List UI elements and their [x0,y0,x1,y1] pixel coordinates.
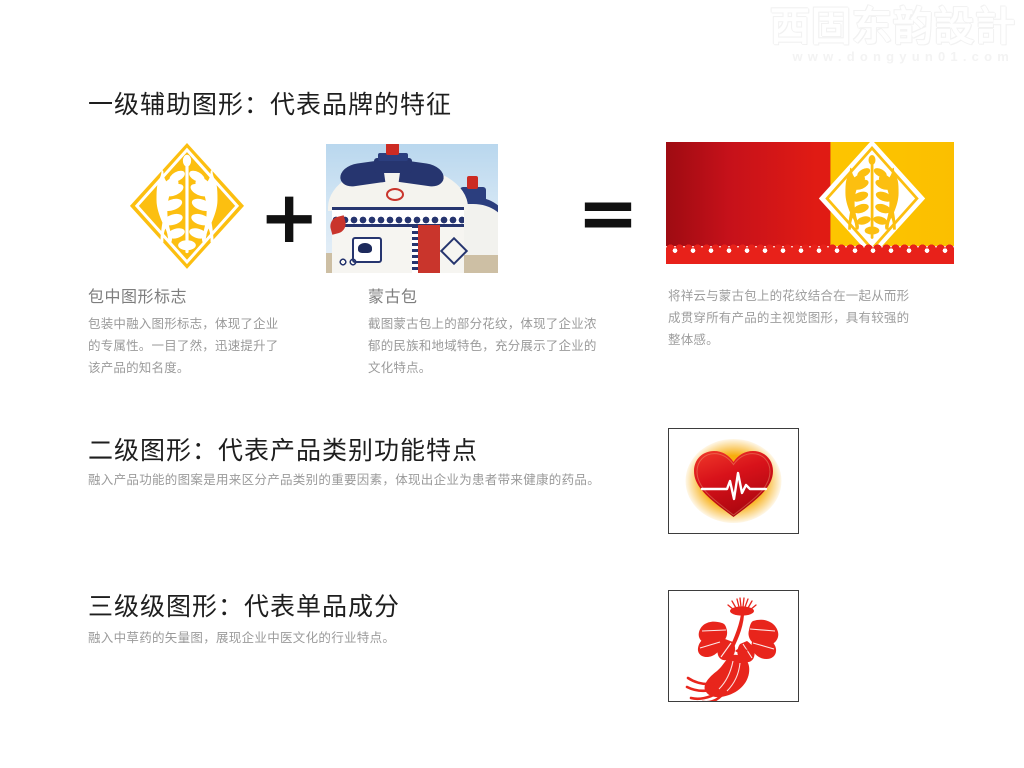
caption-banner: 将祥云与蒙古包上的花纹结合在一起从而形成贯穿所有产品的主视觉图形，具有较强的整体… [668,285,920,351]
slide-canvas: 西固东韵設計 www.dongyun01.com 一级辅助图形：代表品牌的特征 [0,0,1024,768]
caption-logo: 包中图形标志 包装中融入图形标志，体现了企业的专属性。一目了然，迅速提升了该产品… [88,287,288,379]
ginseng-herb-icon-box [668,590,799,702]
watermark: 西固东韵設計 www.dongyun01.com [698,6,1016,64]
section-heading-level-2: 二级图形：代表产品类别功能特点 [88,436,478,466]
ginseng-herb-icon [669,591,798,701]
deer-diamond-logo-icon [128,141,246,272]
cloud-pattern-band [666,248,954,264]
caption-banner-body: 将祥云与蒙古包上的花纹结合在一起从而形成贯穿所有产品的主视觉图形，具有较强的整体… [668,285,920,351]
caption-yurt-body: 截图蒙古包上的部分花纹，体现了企业浓郁的民族和地域特色，充分展示了企业的文化特点… [368,313,600,379]
equals-operator-icon: = [577,176,639,250]
caption-yurt: 蒙古包 截图蒙古包上的部分花纹，体现了企业浓郁的民族和地域特色，充分展示了企业的… [368,287,600,379]
mongolian-yurt-photo [326,144,498,273]
section-heading-level-3: 三级级图形：代表单品成分 [88,592,400,622]
section-heading-level-1: 一级辅助图形：代表品牌的特征 [88,90,452,120]
heart-ecg-icon-box [668,428,799,534]
section-body-level-2: 融入产品功能的图案是用来区分产品类别的重要因素，体现出企业为患者带来健康的药品。 [88,468,608,492]
caption-logo-body: 包装中融入图形标志，体现了企业的专属性。一目了然，迅速提升了该产品的知名度。 [88,313,288,379]
section-body-level-3: 融入中草药的矢量图，展现企业中医文化的行业特点。 [88,626,608,650]
caption-logo-title: 包中图形标志 [88,287,288,309]
watermark-brand-text: 西固东韵設計 [770,7,1016,47]
red-yellow-banner [666,142,954,246]
plus-operator-icon: + [259,181,319,253]
banner-deer-diamond-logo-icon [817,142,927,246]
watermark-url-text: www.dongyun01.com [792,49,1014,64]
heart-ecg-icon [669,429,798,533]
caption-yurt-title: 蒙古包 [368,287,600,309]
